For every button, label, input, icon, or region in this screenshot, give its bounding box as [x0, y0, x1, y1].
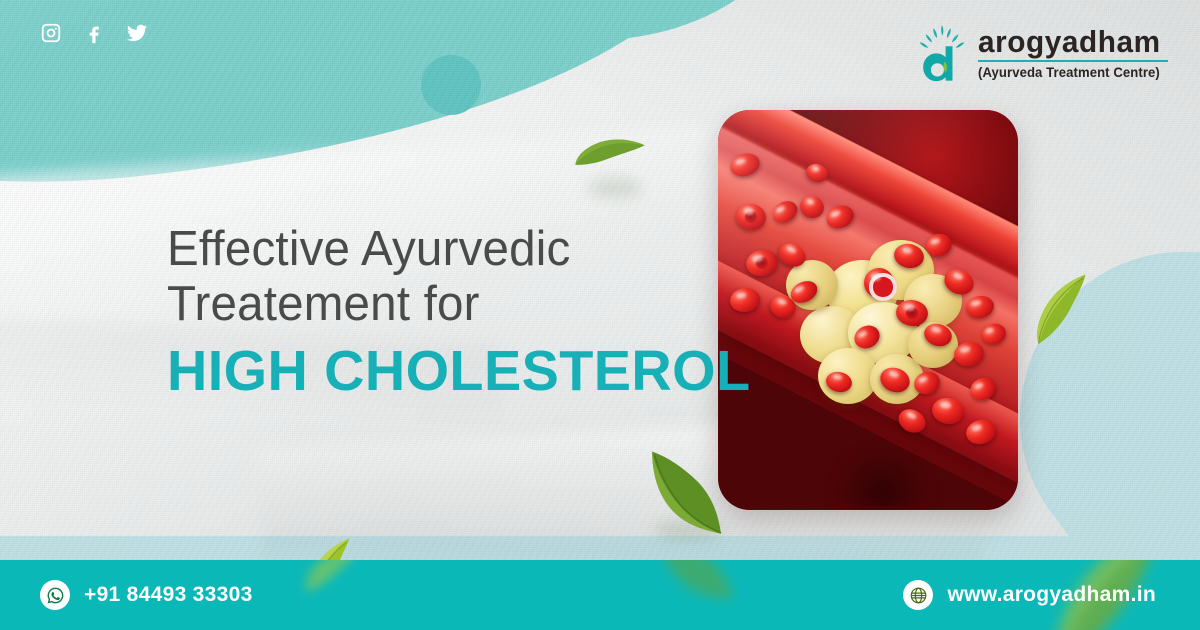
yellow-green-leaf-icon: [1025, 268, 1100, 348]
footer-phone[interactable]: +91 84493 33303: [40, 580, 253, 610]
arogyadham-leaf-logo-icon: [915, 22, 969, 84]
brand-logo[interactable]: arogyadham (Ayurveda Treatment Centre): [915, 22, 1168, 84]
twitter-icon[interactable]: [126, 22, 148, 44]
footer-website[interactable]: www.arogyadham.in: [903, 580, 1156, 610]
headline-emphasis: HIGH CHOLESTEROL: [167, 340, 677, 404]
whatsapp-icon: [40, 580, 70, 610]
headline-line-2: Treatement for: [167, 277, 671, 332]
brand-divider: [978, 60, 1168, 62]
footer-bar: +91 84493 33303 www.arogyadham.in: [0, 560, 1200, 630]
website-url: www.arogyadham.in: [947, 583, 1156, 607]
brand-wordmark: arogyadham (Ayurveda Treatment Centre): [978, 26, 1168, 81]
globe-icon: [903, 580, 933, 610]
artery-cholesterol-image: [718, 110, 1018, 510]
phone-number: +91 84493 33303: [84, 583, 253, 607]
facebook-icon[interactable]: [83, 22, 105, 44]
headline-block: Effective Ayurvedic Treatement for HIGH …: [167, 222, 687, 404]
social-links: [40, 22, 148, 44]
instagram-icon[interactable]: [40, 22, 62, 44]
brand-name: arogyadham: [978, 26, 1161, 58]
teal-dot-accent: [421, 55, 481, 115]
green-leaf-icon: [634, 445, 738, 536]
promo-banner: arogyadham (Ayurveda Treatment Centre) E…: [0, 0, 1200, 630]
footer-accent-band: [0, 536, 1200, 560]
brand-tagline: (Ayurveda Treatment Centre): [978, 65, 1163, 80]
green-leaf-icon: [572, 123, 647, 187]
headline-line-1: Effective Ayurvedic: [167, 222, 671, 277]
hero-image-card: [718, 110, 1018, 510]
